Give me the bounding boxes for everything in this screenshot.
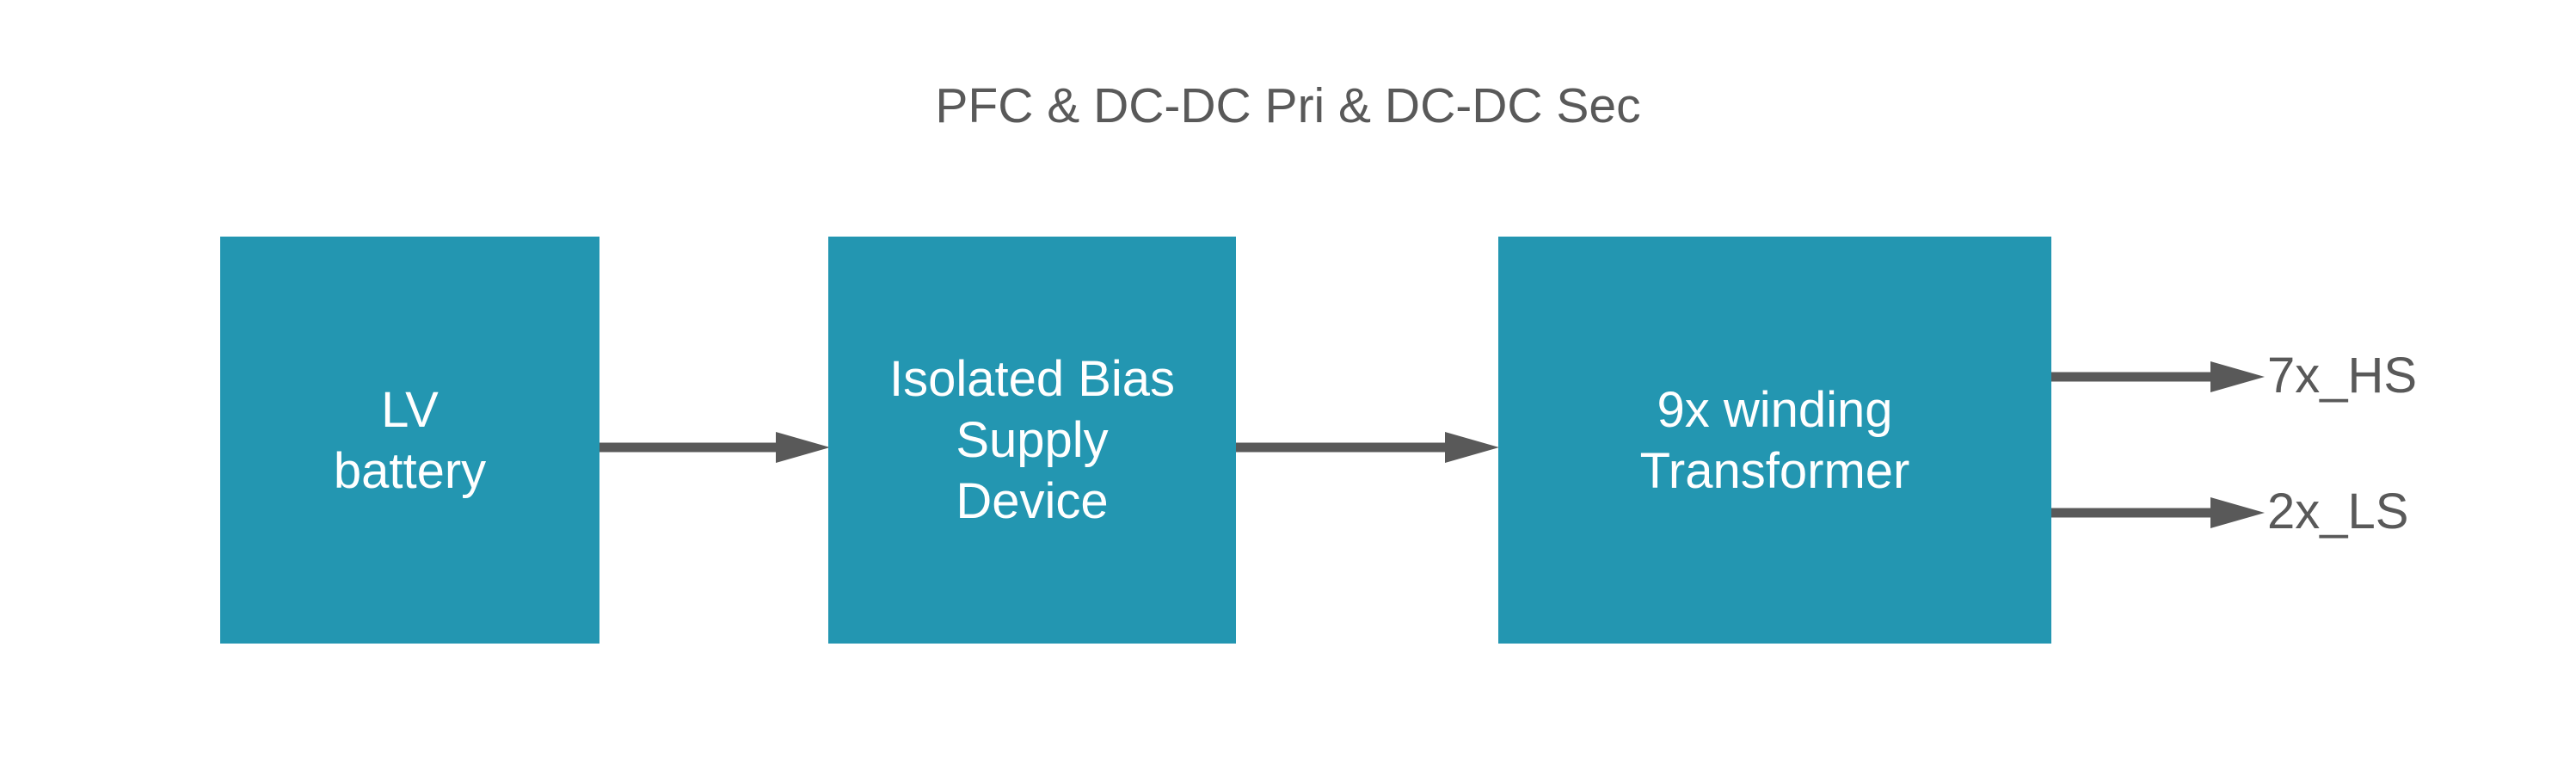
block-lv-battery[interactable]: LV battery [220,237,599,644]
block-transformer-label: 9x winding Transformer [1498,379,2051,502]
block-lv-battery-label: LV battery [220,379,599,502]
block-isolated-bias-supply-device-label: Isolated Bias Supply Device [828,348,1236,532]
output-label-hs: 7x_HS [2267,348,2417,404]
block-transformer[interactable]: 9x winding Transformer [1498,237,2051,644]
arrow-battery-to-bias [599,432,830,463]
output-label-ls: 2x_LS [2267,484,2408,540]
diagram-canvas: PFC & DC-DC Pri & DC-DC Sec LV battery I… [0,0,2576,764]
arrow-ls-output [2051,497,2265,528]
block-isolated-bias-supply-device[interactable]: Isolated Bias Supply Device [828,237,1236,644]
arrow-bias-to-transformer [1236,432,1499,463]
page-title: PFC & DC-DC Pri & DC-DC Sec [0,76,2576,136]
arrow-hs-output [2051,361,2265,392]
